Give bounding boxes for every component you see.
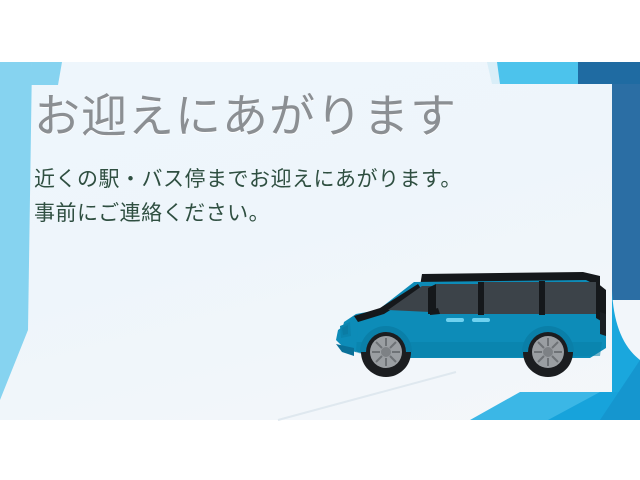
body-line-2: 事前にご連絡ください。 [34, 196, 554, 230]
car-tail-light [600, 312, 606, 336]
car-window-front [436, 284, 478, 314]
promotional-banner: お迎えにあがります 近くの駅・バス停までお迎えにあがります。 事前にご連絡くださ… [0, 0, 640, 480]
body-line-1: 近くの駅・バス停までお迎えにあがります。 [34, 162, 554, 196]
car-window-rear [544, 282, 596, 314]
corner-accent-top-left-stub [30, 62, 62, 85]
minivan-illustration [318, 252, 618, 392]
car-window-mid [483, 282, 539, 314]
corner-accent-top-left-bar [0, 62, 32, 400]
car-pillar-c [539, 281, 545, 315]
car-pillar-b [478, 282, 484, 315]
decorative-shapes [0, 0, 640, 480]
car-door-handle-front [446, 318, 464, 322]
car-door-handle-rear [472, 318, 490, 322]
corner-accent-right-dark-top [578, 62, 640, 84]
text-block: お迎えにあがります 近くの駅・バス停までお迎えにあがります。 事前にご連絡くださ… [34, 92, 554, 230]
headline: お迎えにあがります [34, 92, 554, 142]
body-text: 近くの駅・バス停までお迎えにあがります。 事前にご連絡ください。 [34, 162, 554, 230]
